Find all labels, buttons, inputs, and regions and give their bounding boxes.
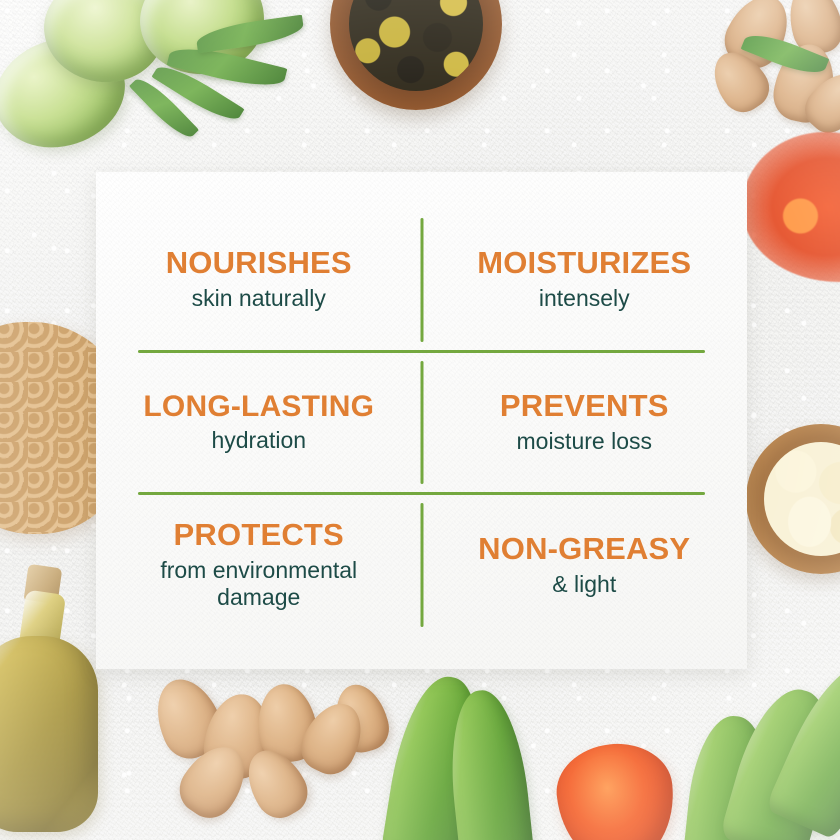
benefit-subtext: moisture loss [517,428,652,455]
benefit-subtext: intensely [539,285,630,312]
benefits-row-2: LONG-LASTING hydration PREVENTS moisture… [96,353,747,493]
benefit-prevents: PREVENTS moisture loss [422,390,748,455]
benefits-row-1: NOURISHES skin naturally MOISTURIZES int… [96,210,747,350]
benefit-moisturizes: MOISTURIZES intensely [422,247,748,312]
product-benefits-banner: NOURISHES skin naturally MOISTURIZES int… [0,0,840,840]
benefit-subtext: from environmental damage [160,557,357,611]
benefit-heading: LONG-LASTING [143,391,374,423]
benefit-heading: PREVENTS [500,390,669,423]
benefit-protects: PROTECTS from environmental damage [96,519,422,611]
benefit-heading: NON-GREASY [478,533,690,566]
vertical-divider [420,361,423,485]
benefits-card: NOURISHES skin naturally MOISTURIZES int… [96,172,747,669]
benefit-heading: NOURISHES [166,247,352,280]
benefit-nourishes: NOURISHES skin naturally [96,247,422,312]
benefit-long-lasting: LONG-LASTING hydration [96,391,422,455]
benefit-heading: PROTECTS [174,519,344,552]
benefit-subtext: hydration [211,427,306,454]
benefit-heading: MOISTURIZES [477,247,691,280]
vertical-divider [420,503,423,627]
benefit-subtext: & light [552,571,616,598]
benefits-row-3: PROTECTS from environmental damage NON-G… [96,495,747,635]
benefit-subtext: skin naturally [192,285,326,312]
vertical-divider [420,218,423,342]
benefit-non-greasy: NON-GREASY & light [422,533,748,598]
